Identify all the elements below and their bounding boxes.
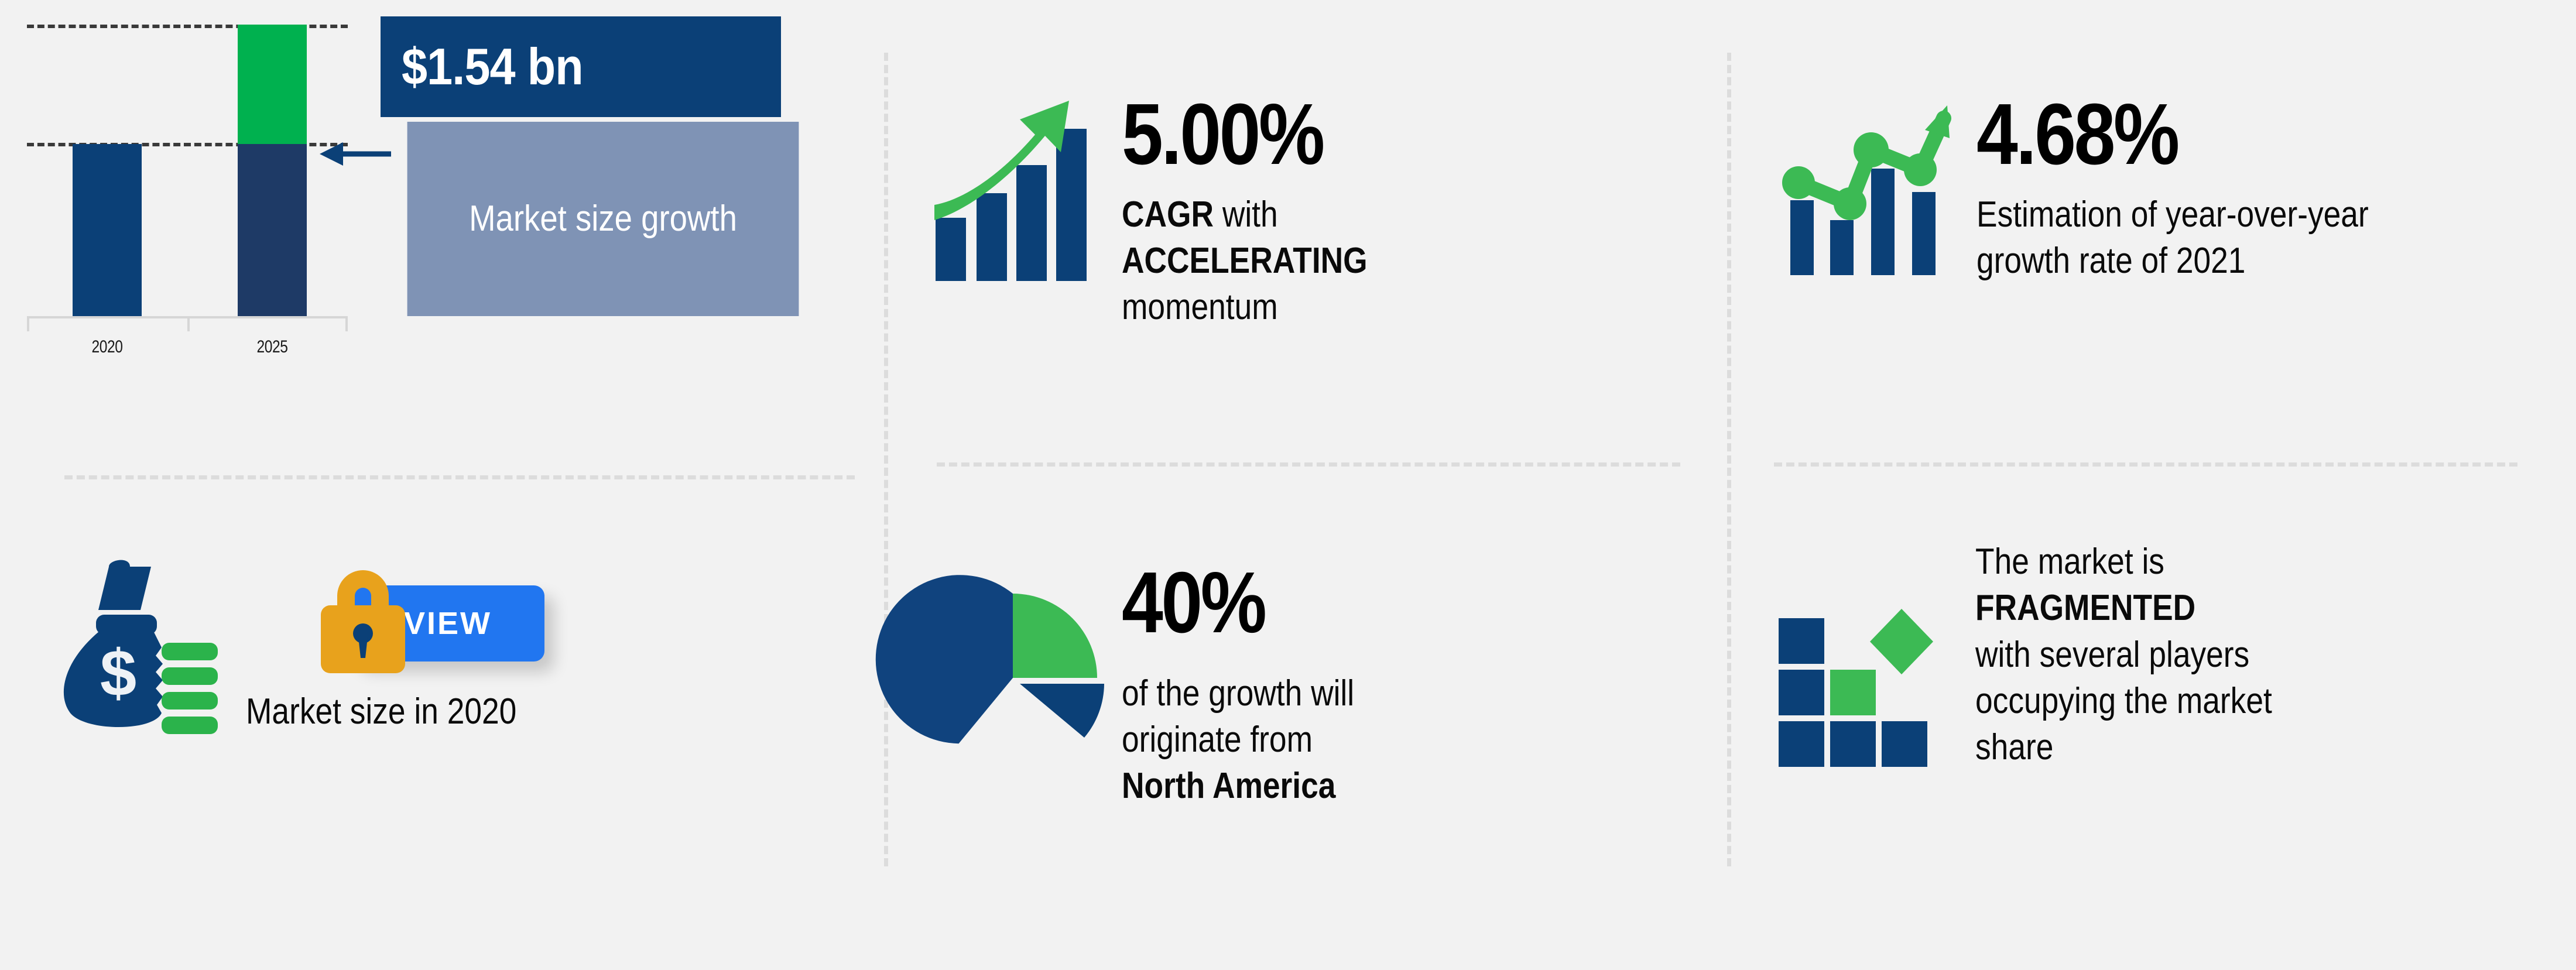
bar-2025-growth xyxy=(238,25,307,144)
grid-squares-diamond-icon xyxy=(1774,602,1950,760)
regional-share-description: of the growth will originate from North … xyxy=(1122,670,1565,810)
yoy-description: Estimation of year-over-year growth rate… xyxy=(1976,191,2420,285)
cagr-with: with xyxy=(1214,194,1278,235)
fragmentation-text: The market is FRAGMENTED with several pl… xyxy=(1975,539,2537,771)
market-size-2020-label: Market size in 2020 xyxy=(246,691,699,732)
x-axis-tick-mid xyxy=(187,316,190,331)
cagr-description: CAGR with ACCELERATING momentum xyxy=(1122,191,1575,331)
regional-share-text: 40% of the growth will originate from No… xyxy=(1122,562,1637,810)
cagr-bold-accelerating: ACCELERATING xyxy=(1122,241,1368,281)
cagr-panel: 5.00% CAGR with ACCELERATING momentum xyxy=(925,94,1649,331)
x-axis-label-2025: 2025 xyxy=(234,337,310,357)
bar-2020 xyxy=(73,144,142,316)
yoy-value: 4.68% xyxy=(1976,94,2420,176)
x-axis-tick-start xyxy=(27,316,29,331)
cagr-momentum: momentum xyxy=(1122,287,1278,327)
regional-line2: originate from xyxy=(1122,719,1313,760)
market-size-2020-panel: $ VIEW Market size in 2020 xyxy=(53,550,814,802)
market-size-callout: $1.54 bn Market size growth xyxy=(381,16,825,316)
line-chart-bars-icon xyxy=(1774,94,1955,281)
divider-vertical-right xyxy=(1727,53,1731,866)
infographic-board: 2020 2025 $1.54 bn Market size growth xyxy=(0,0,2576,970)
market-size-growth-panel: 2020 2025 $1.54 bn Market size growth xyxy=(0,0,796,345)
market-size-bar-chart: 2020 2025 xyxy=(0,0,363,345)
market-size-caption: Market size growth xyxy=(407,122,799,316)
pie-chart-icon xyxy=(925,590,1101,766)
regional-share-value: 40% xyxy=(1122,562,1565,645)
yoy-text: 4.68% Estimation of year-over-year growt… xyxy=(1976,94,2492,284)
regional-line3-bold: North America xyxy=(1122,766,1335,806)
fragmentation-description: The market is FRAGMENTED with several pl… xyxy=(1975,539,2459,771)
frag-line3: with several players xyxy=(1975,635,2249,675)
divider-horizontal-middle xyxy=(937,462,1680,467)
x-axis-tick-end xyxy=(345,316,348,331)
divider-horizontal-right xyxy=(1774,462,2517,467)
svg-text:$: $ xyxy=(100,636,136,709)
frag-line5: share xyxy=(1975,727,2053,767)
divider-horizontal-left xyxy=(64,475,855,479)
x-axis-label-2020: 2020 xyxy=(68,337,145,357)
cagr-value: 5.00% xyxy=(1122,94,1575,176)
yoy-panel: 4.68% Estimation of year-over-year growt… xyxy=(1774,94,2492,284)
regional-line1: of the growth will xyxy=(1122,673,1354,714)
fragmentation-panel: The market is FRAGMENTED with several pl… xyxy=(1774,539,2537,771)
cagr-text: 5.00% CAGR with ACCELERATING momentum xyxy=(1122,94,1649,331)
regional-share-panel: 40% of the growth will originate from No… xyxy=(925,562,1637,810)
frag-line1: The market is xyxy=(1975,541,2164,582)
lock-icon xyxy=(304,562,422,673)
money-bag-icon: $ xyxy=(53,556,222,732)
frag-line2-bold: FRAGMENTED xyxy=(1975,588,2195,628)
cagr-bold-cagr: CAGR xyxy=(1122,194,1214,235)
bar-2025-base xyxy=(238,144,307,316)
frag-line4: occupying the market xyxy=(1975,681,2272,721)
market-size-value: $1.54 bn xyxy=(381,16,781,117)
growth-arrow-bars-icon xyxy=(925,94,1101,287)
divider-vertical-left xyxy=(884,53,888,866)
